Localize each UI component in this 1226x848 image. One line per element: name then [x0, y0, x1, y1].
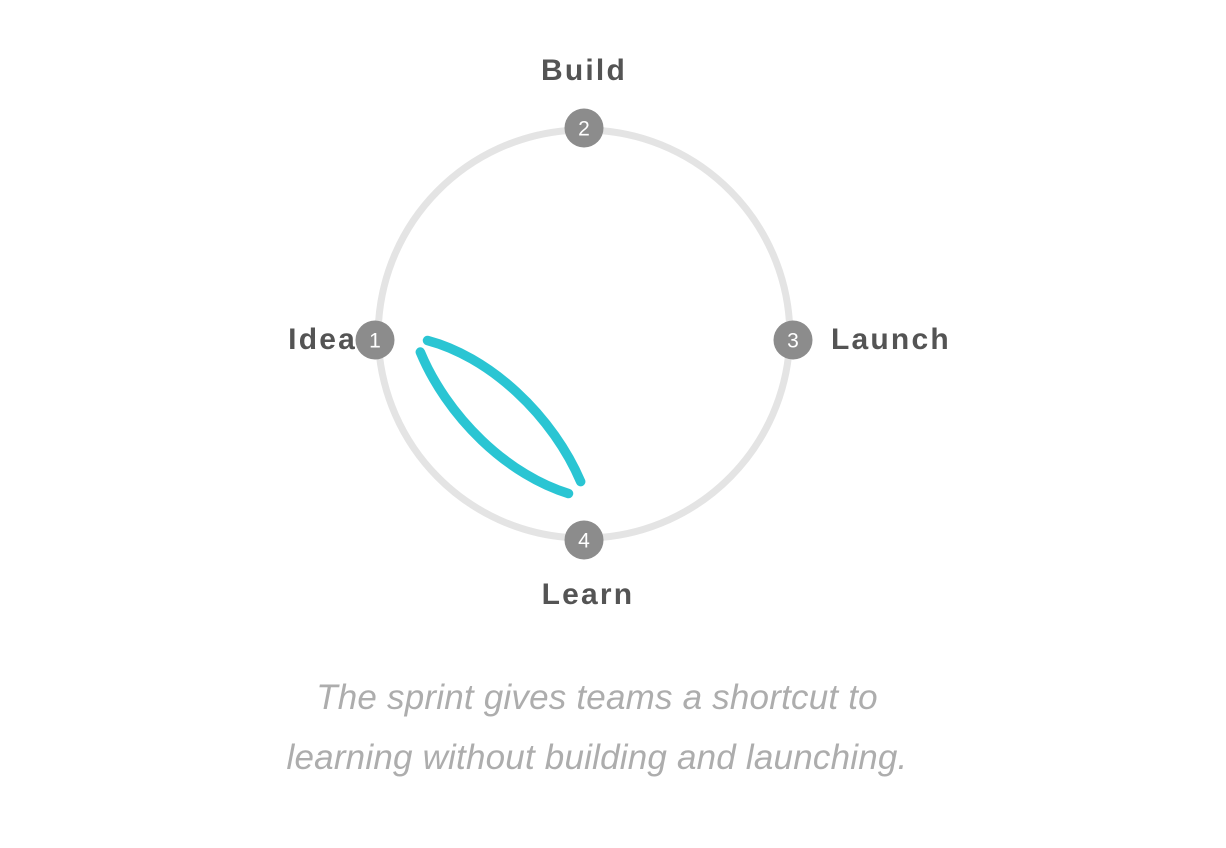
- caption-line-1: The sprint gives teams a shortcut to: [0, 668, 1194, 728]
- ring-arc-learn-to-idea: [379, 347, 567, 538]
- outer-ring-group: [379, 131, 790, 538]
- caption-line-2: learning without building and launching.: [0, 728, 1194, 788]
- stage-label-build: Build: [0, 56, 1168, 86]
- ring-arc-launch-to-learn: [601, 347, 789, 538]
- node-3-number: 3: [787, 330, 799, 353]
- ring-arc-build-to-launch: [601, 131, 789, 322]
- node-2-number: 2: [578, 118, 590, 141]
- node-4[interactable]: 4: [565, 521, 604, 560]
- node-2[interactable]: 2: [565, 109, 604, 148]
- node-1-number: 1: [369, 330, 381, 353]
- node-4-number: 4: [578, 530, 590, 553]
- node-3[interactable]: 3: [774, 321, 813, 360]
- stage-label-launch: Launch: [831, 325, 951, 355]
- sprint-loop-diagram: 1 2 3 4 Build Idea Launch Learn The spri…: [0, 0, 1226, 848]
- stage-label-learn: Learn: [0, 580, 1176, 610]
- node-1[interactable]: 1: [356, 321, 395, 360]
- shortcut-loop-group: [408, 317, 590, 514]
- diagram-caption: The sprint gives teams a shortcut to lea…: [0, 668, 1194, 788]
- ring-arc-idea-to-build: [379, 131, 567, 322]
- stage-label-idea: Idea: [288, 325, 357, 355]
